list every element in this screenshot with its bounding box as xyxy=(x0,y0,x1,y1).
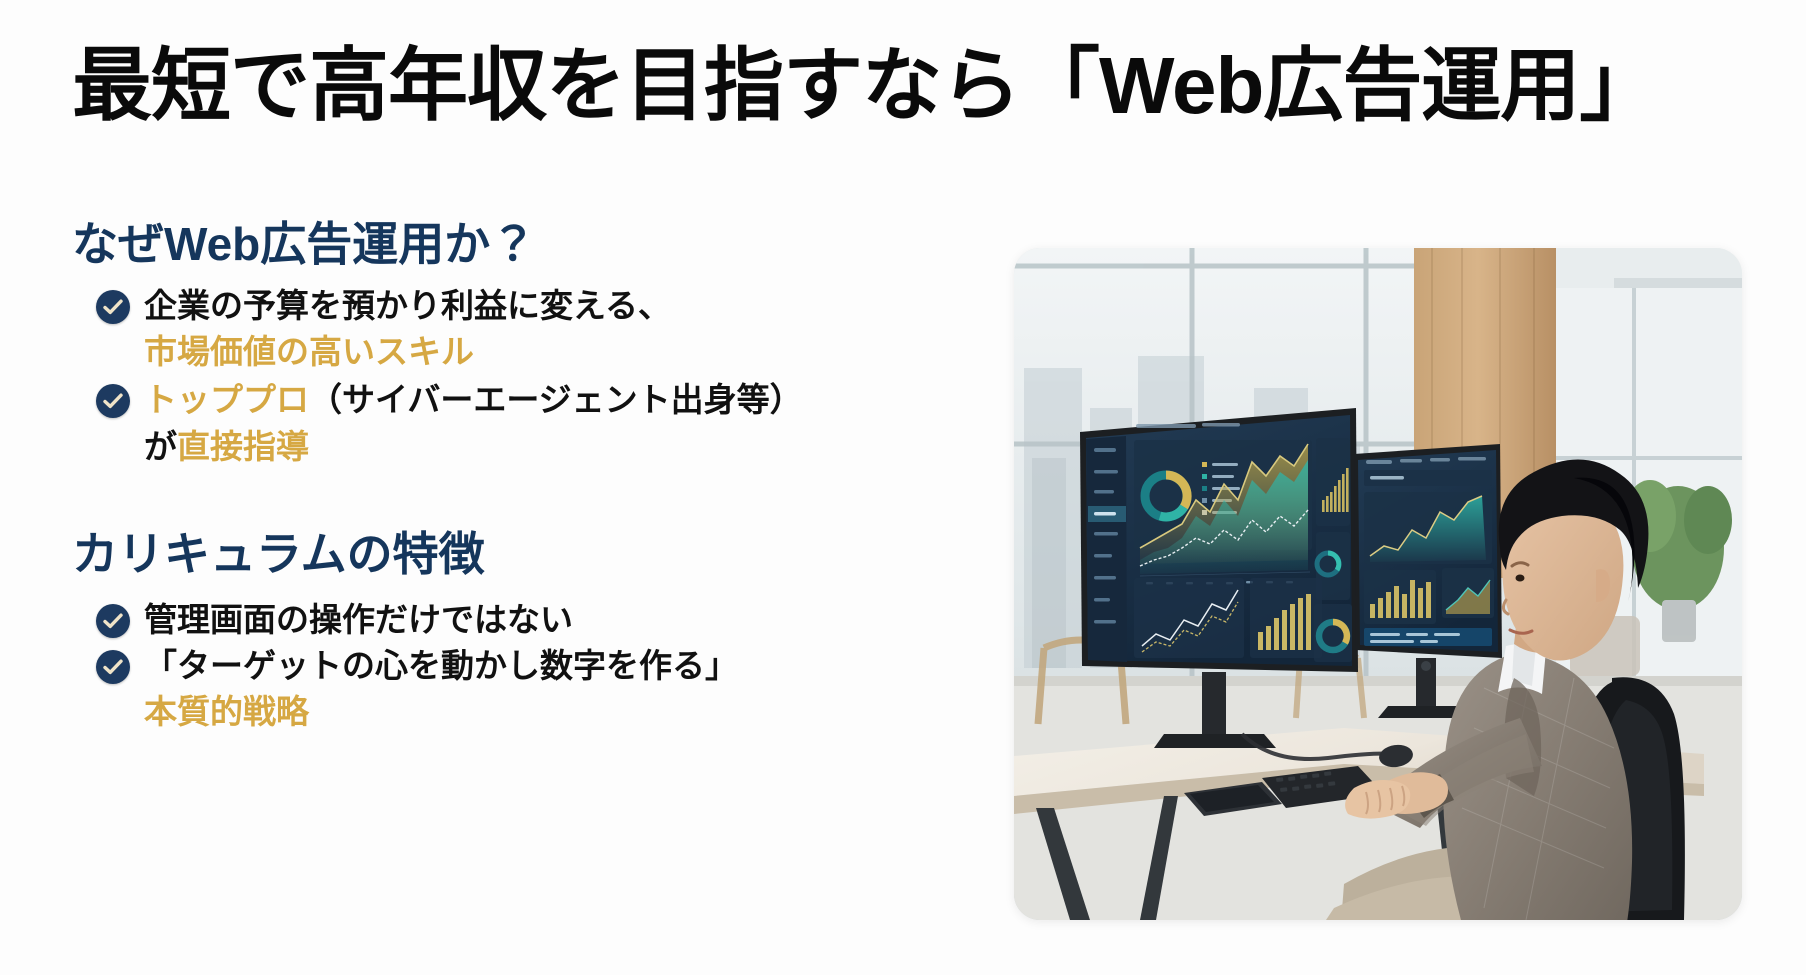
section-curriculum: カリキュラムの特徴 管理画面の操作だけではない xyxy=(72,528,962,734)
check-circle-icon xyxy=(96,290,130,324)
bullet-line-1: 企業の予算を預かり利益に変える、 xyxy=(144,287,671,324)
slide-root: 最短で高年収を目指すなら「Web広告運用」 なぜWeb広告運用か？ 企業の予算を… xyxy=(0,0,1806,975)
list-item: トッププロ（サイバーエージェント出身等） xyxy=(72,379,962,421)
bullet-line-1: （サイバーエージェント出身等） xyxy=(309,381,803,418)
bullet-line-2: が直接指導 xyxy=(144,426,962,468)
section-heading-why: なぜWeb広告運用か？ xyxy=(72,218,962,271)
bullet-line-1: 「ターゲットの心を動かし数字を作る」 xyxy=(144,647,738,684)
check-circle-icon xyxy=(96,604,130,638)
list-item-text: 企業の予算を預かり利益に変える、 xyxy=(144,285,671,327)
list-item: 「ターゲットの心を動かし数字を作る」 xyxy=(72,645,962,687)
list-item-text: 管理画面の操作だけではない xyxy=(144,599,573,641)
bullet-line-2-prefix: が xyxy=(144,428,177,465)
bullet-line-2: 市場価値の高いスキル xyxy=(144,331,962,373)
office-worker-dual-monitor-photo xyxy=(1014,248,1742,920)
bullet-highlight: トッププロ xyxy=(144,381,309,418)
list-item: 企業の予算を預かり利益に変える、 xyxy=(72,285,962,327)
check-circle-icon xyxy=(96,384,130,418)
list-item-text: 「ターゲットの心を動かし数字を作る」 xyxy=(144,645,738,687)
page-title: 最短で高年収を目指すなら「Web広告運用」 xyxy=(72,46,1732,126)
bullet-line-2: 本質的戦略 xyxy=(144,691,962,733)
bullet-line-2-highlight: 直接指導 xyxy=(177,428,309,465)
section-why: なぜWeb広告運用か？ 企業の予算を預かり利益に変える、 市場価値の高いスキル xyxy=(72,218,962,468)
check-circle-icon xyxy=(96,650,130,684)
bullet-line-1: 管理画面の操作だけではない xyxy=(144,601,573,638)
content-column: なぜWeb広告運用か？ 企業の予算を預かり利益に変える、 市場価値の高いスキル xyxy=(72,218,962,741)
list-item-text: トッププロ（サイバーエージェント出身等） xyxy=(144,379,803,421)
list-item: 管理画面の操作だけではない xyxy=(72,599,962,641)
section-heading-curriculum: カリキュラムの特徴 xyxy=(72,528,962,581)
